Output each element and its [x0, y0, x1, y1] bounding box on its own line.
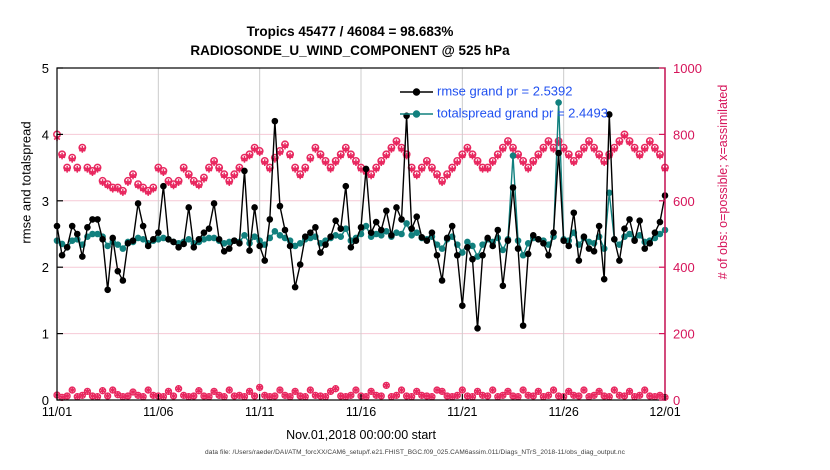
x-tick-label: 11/26: [548, 405, 578, 419]
y-tick-label: 4: [42, 127, 49, 142]
legend-item[interactable]: rmse grand pr = 2.5392: [400, 83, 573, 98]
y2-tick-label: 800: [673, 127, 695, 142]
figure-canvas: Tropics 45477 / 46084 = 98.683% RADIOSON…: [0, 0, 830, 470]
x-axis-label: Nov.01,2018 00:00:00 start: [57, 428, 665, 442]
x-tick-label: 11/11: [245, 405, 274, 419]
y2-tick-label: 200: [673, 327, 695, 342]
legend-label: rmse grand pr = 2.5392: [437, 83, 573, 98]
legend[interactable]: rmse grand pr = 2.5392totalspread grand …: [400, 83, 608, 120]
y2-tick-label: 400: [673, 260, 695, 275]
legend-label: totalspread grand pr = 2.4493: [437, 105, 608, 120]
plot-svg: 0123450200400600800100011/0111/0611/1111…: [0, 0, 830, 470]
x-tick-label: 11/16: [346, 405, 376, 419]
x-tick-label: 11/21: [447, 405, 477, 419]
y-tick-label: 3: [42, 194, 49, 209]
y2-tick-label: 600: [673, 194, 695, 209]
y2-axis-label: # of obs: o=possible; x=assimilated: [716, 32, 730, 332]
y2-tick-label: 1000: [673, 61, 702, 76]
y-tick-label: 1: [42, 327, 49, 342]
x-tick-label: 11/01: [42, 405, 72, 419]
x-tick-label: 11/06: [143, 405, 173, 419]
y-tick-label: 2: [42, 260, 49, 275]
x-tick-label: 12/01: [649, 405, 680, 419]
data-file-note: data file: /Users/raeder/DAI/ATM_forcXX/…: [0, 449, 830, 456]
y-axis-label: rmse and totalspread: [19, 53, 34, 313]
y-tick-label: 5: [42, 61, 49, 76]
legend-item[interactable]: totalspread grand pr = 2.4493: [400, 105, 608, 120]
